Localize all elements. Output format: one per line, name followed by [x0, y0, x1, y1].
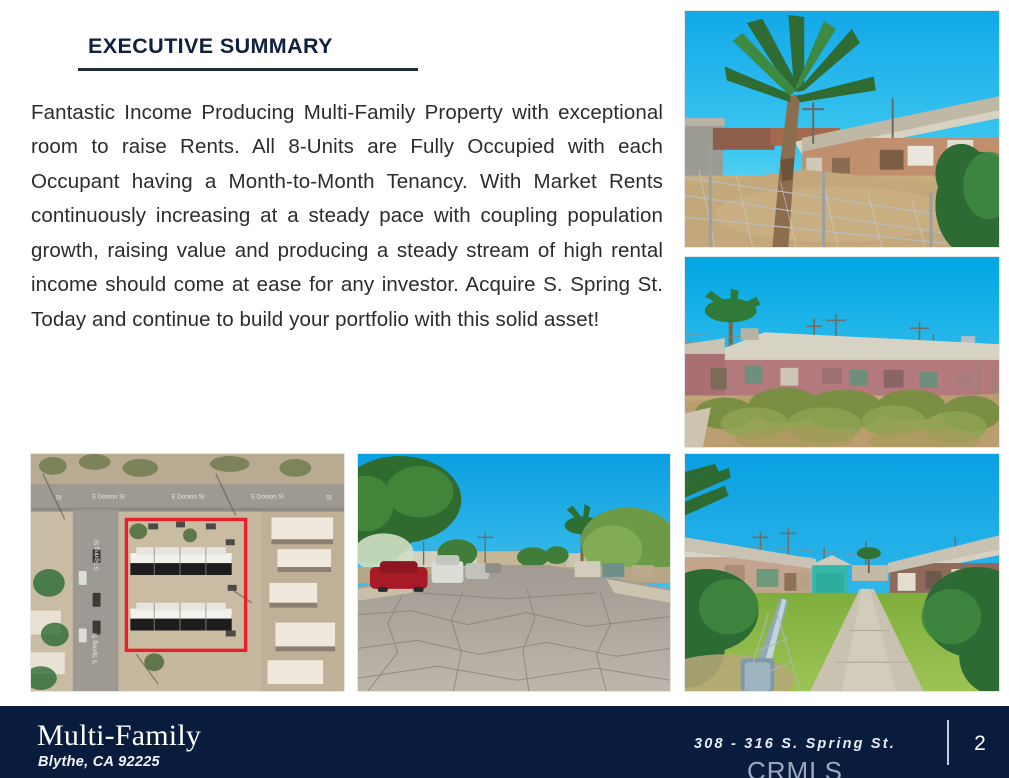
summary-body-text: Fantastic Income Producing Multi-Family …	[31, 96, 663, 338]
presentation-page: EXECUTIVE SUMMARY Fantastic Income Produ…	[0, 0, 1009, 778]
footer-divider	[947, 720, 949, 765]
photo-exterior-palm	[684, 10, 1000, 248]
footer-property-location: Blythe, CA 92225	[38, 754, 160, 770]
title-underline-rule	[78, 68, 418, 71]
photo-aerial-map: St E Donlon St E Donlon St E Donlon St S…	[30, 453, 345, 692]
crmls-watermark: CRMLS	[660, 756, 930, 778]
page-title: EXECUTIVE SUMMARY	[88, 34, 663, 59]
svg-text:St: St	[56, 495, 62, 502]
page-footer: Multi-Family Blythe, CA 92225 308 - 316 …	[0, 706, 1009, 778]
photo-exterior-palm-image	[685, 11, 999, 247]
photo-aerial-map-image: St E Donlon St E Donlon St E Donlon St S…	[31, 454, 344, 691]
photo-street-view-image	[358, 454, 670, 691]
footer-property-name: Multi-Family	[37, 719, 201, 753]
svg-text:E Donlon St: E Donlon St	[172, 494, 205, 501]
photo-building-rear	[684, 256, 1000, 448]
svg-text:E Donlon St: E Donlon St	[92, 494, 125, 501]
svg-text:St: St	[326, 495, 332, 502]
photo-courtyard	[684, 453, 1000, 692]
photo-street-view	[357, 453, 671, 692]
photo-courtyard-image	[685, 454, 999, 691]
svg-text:E Donlon St: E Donlon St	[251, 494, 284, 501]
photo-building-rear-image	[685, 257, 999, 447]
svg-text:S Spring St: S Spring St	[92, 633, 99, 664]
executive-summary-section: EXECUTIVE SUMMARY Fantastic Income Produ…	[31, 34, 663, 337]
page-number: 2	[960, 732, 1000, 756]
footer-address: 308 - 316 S. Spring St.	[660, 736, 930, 752]
svg-text:S Spring St: S Spring St	[94, 539, 101, 570]
